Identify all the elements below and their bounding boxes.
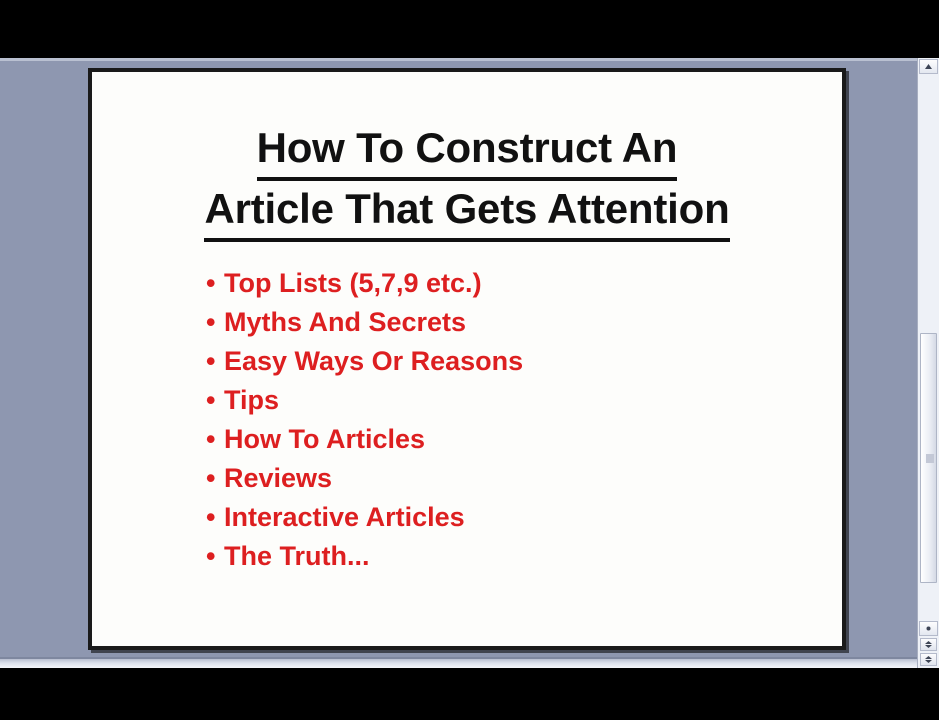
bullet-point-icon: • — [206, 303, 215, 342]
letterbox-bottom — [0, 668, 939, 720]
scroll-next-page-button[interactable] — [920, 653, 937, 666]
slide-title-line-1-text: How To Construct An — [257, 120, 678, 181]
bullet-point-icon: • — [206, 498, 215, 537]
scroll-up-button[interactable] — [919, 59, 938, 74]
slide-title-line-1: How To Construct An — [118, 120, 816, 181]
scroll-up-arrow-icon — [925, 64, 932, 69]
letterbox-top — [0, 0, 939, 58]
bullet-point-icon: • — [206, 537, 215, 576]
presentation-viewer: How To Construct An Article That Gets At… — [0, 58, 939, 668]
list-item: • Reviews — [206, 459, 842, 498]
scroll-page-icon — [924, 641, 933, 648]
list-item-label: Top Lists (5,7,9 etc.) — [224, 268, 482, 298]
vertical-scrollbar[interactable] — [917, 58, 939, 668]
viewer-bottom-highlight — [0, 659, 939, 668]
list-item: • Tips — [206, 381, 842, 420]
bullet-point-icon: • — [206, 264, 215, 303]
list-item: • Top Lists (5,7,9 etc.) — [206, 264, 842, 303]
slide-title-line-2-text: Article That Gets Attention — [204, 181, 729, 242]
scrollbar-thumb[interactable] — [920, 333, 937, 583]
presentation-slide: How To Construct An Article That Gets At… — [88, 68, 846, 650]
list-item: • Interactive Articles — [206, 498, 842, 537]
list-item-label: Tips — [224, 385, 279, 415]
slide-title-line-2: Article That Gets Attention — [118, 181, 816, 242]
scrollbar-thumb-grip — [926, 454, 934, 463]
scroll-down-button[interactable] — [919, 621, 938, 636]
list-item-label: Reviews — [224, 463, 332, 493]
scroll-previous-page-button[interactable] — [920, 638, 937, 651]
bullet-point-icon: • — [206, 381, 215, 420]
video-player-screen: How To Construct An Article That Gets At… — [0, 0, 939, 720]
list-item: • The Truth... — [206, 537, 842, 576]
bullet-point-icon: • — [206, 342, 215, 381]
list-item-label: Interactive Articles — [224, 502, 465, 532]
bullet-point-icon: • — [206, 420, 215, 459]
list-item: • How To Articles — [206, 420, 842, 459]
list-item: • Myths And Secrets — [206, 303, 842, 342]
slide-bullet-list: • Top Lists (5,7,9 etc.) • Myths And Sec… — [92, 264, 842, 576]
scroll-split-icon — [924, 656, 933, 663]
list-item-label: Easy Ways Or Reasons — [224, 346, 523, 376]
slide-title: How To Construct An Article That Gets At… — [92, 72, 842, 242]
list-item: • Easy Ways Or Reasons — [206, 342, 842, 381]
list-item-label: The Truth... — [224, 541, 370, 571]
scroll-down-arrow-icon — [925, 626, 932, 631]
list-item-label: How To Articles — [224, 424, 425, 454]
bullet-point-icon: • — [206, 459, 215, 498]
list-item-label: Myths And Secrets — [224, 307, 466, 337]
viewer-top-highlight — [0, 58, 939, 61]
